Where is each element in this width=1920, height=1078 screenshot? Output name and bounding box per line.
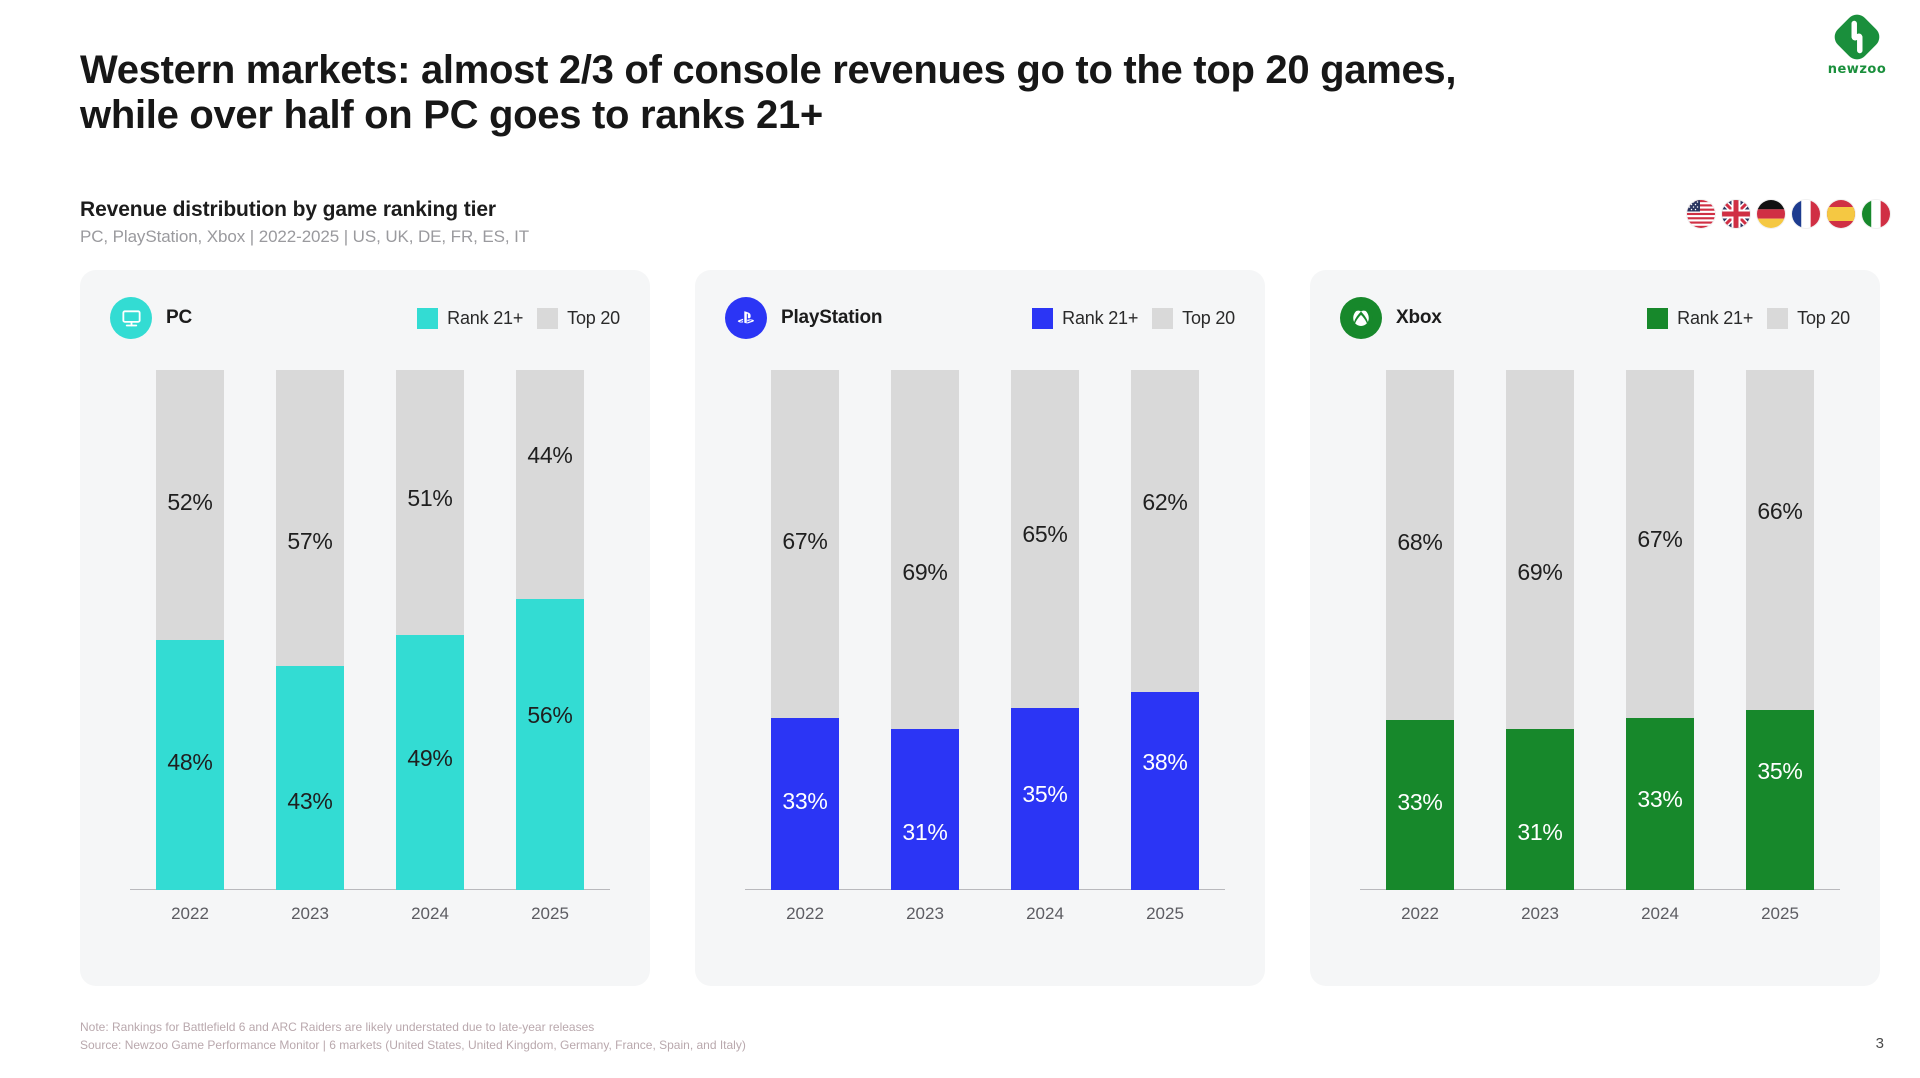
bar-segment-top20-2025[interactable]: 66% <box>1746 370 1814 710</box>
bar-segment-rank21plus-2022[interactable]: 33% <box>771 718 839 890</box>
bar-column-2022[interactable]: 68%33% <box>1386 370 1454 890</box>
legend-swatch-top-20 <box>1767 308 1788 329</box>
bar-label-rank21plus-2022: 48% <box>167 749 212 776</box>
x-tick-2025: 2025 <box>516 904 584 924</box>
legend-swatch-rank-21- <box>1032 308 1053 329</box>
bar-segment-top20-2023[interactable]: 69% <box>1506 370 1574 729</box>
x-tick-2024: 2024 <box>396 904 464 924</box>
bar-label-top20-2023: 57% <box>287 528 332 555</box>
bar-label-rank21plus-2025: 38% <box>1142 749 1187 776</box>
bar-label-rank21plus-2023: 31% <box>1517 819 1562 846</box>
legend-label-rank-21-: Rank 21+ <box>447 308 523 329</box>
bar-segment-top20-2023[interactable]: 69% <box>891 370 959 729</box>
chart-section-subtitle: PC, PlayStation, Xbox | 2022-2025 | US, … <box>80 227 529 247</box>
newzoo-logo-text: newzoo <box>1828 62 1887 77</box>
bar-column-2023[interactable]: 69%31% <box>891 370 959 890</box>
chart-section-title: Revenue distribution by game ranking tie… <box>80 198 529 222</box>
flag-de-icon <box>1757 200 1785 228</box>
x-tick-2024: 2024 <box>1011 904 1079 924</box>
bar-label-top20-2022: 68% <box>1397 529 1442 556</box>
market-flags <box>1687 200 1890 228</box>
bar-label-top20-2024: 67% <box>1637 526 1682 553</box>
bar-column-2022[interactable]: 52%48% <box>156 370 224 890</box>
legend-label-top-20: Top 20 <box>567 308 620 329</box>
bar-segment-top20-2022[interactable]: 68% <box>1386 370 1454 720</box>
platform-name-xbox: Xbox <box>1396 307 1442 329</box>
bar-label-top20-2023: 69% <box>1517 559 1562 586</box>
platform-card-pc: PCRank 21+Top 2052%48%57%43%51%49%44%56%… <box>80 270 650 986</box>
x-tick-2025: 2025 <box>1131 904 1199 924</box>
bar-column-2024[interactable]: 65%35% <box>1011 370 1079 890</box>
bars-container: 67%33%69%31%65%35%62%38% <box>745 370 1225 890</box>
bar-segment-top20-2024[interactable]: 67% <box>1626 370 1694 718</box>
platform-card-xbox: XboxRank 21+Top 2068%33%69%31%67%33%66%3… <box>1310 270 1880 986</box>
x-axis-ticks: 2022202320242025 <box>745 894 1225 924</box>
subhead: Revenue distribution by game ranking tie… <box>80 198 529 247</box>
x-axis-ticks: 2022202320242025 <box>1360 894 1840 924</box>
newzoo-logo: newzoo <box>1818 14 1896 77</box>
bar-segment-top20-2022[interactable]: 67% <box>771 370 839 718</box>
legend-xbox: Rank 21+Top 20 <box>1647 308 1850 329</box>
legend-playstation: Rank 21+Top 20 <box>1032 308 1235 329</box>
playstation-icon <box>725 297 767 339</box>
x-tick-2025: 2025 <box>1746 904 1814 924</box>
bar-column-2023[interactable]: 57%43% <box>276 370 344 890</box>
legend-label-rank-21-: Rank 21+ <box>1677 308 1753 329</box>
x-axis-ticks: 2022202320242025 <box>130 894 610 924</box>
x-tick-2022: 2022 <box>156 904 224 924</box>
platform-card-playstation: PlayStationRank 21+Top 2067%33%69%31%65%… <box>695 270 1265 986</box>
card-header-playstation: PlayStationRank 21+Top 20 <box>725 296 1235 340</box>
legend-item-top-20[interactable]: Top 20 <box>1152 308 1235 329</box>
legend-item-top-20[interactable]: Top 20 <box>1767 308 1850 329</box>
bar-segment-rank21plus-2023[interactable]: 31% <box>1506 729 1574 890</box>
bars-container: 68%33%69%31%67%33%66%35% <box>1360 370 1840 890</box>
bar-label-top20-2025: 66% <box>1757 498 1802 525</box>
bar-label-rank21plus-2025: 35% <box>1757 758 1802 785</box>
legend-label-top-20: Top 20 <box>1182 308 1235 329</box>
flag-fr-icon <box>1792 200 1820 228</box>
bar-segment-rank21plus-2025[interactable]: 35% <box>1746 710 1814 890</box>
x-tick-2022: 2022 <box>771 904 839 924</box>
bar-column-2025[interactable]: 44%56% <box>516 370 584 890</box>
bar-label-rank21plus-2025: 56% <box>527 702 572 729</box>
bar-segment-rank21plus-2024[interactable]: 35% <box>1011 708 1079 890</box>
bar-segment-rank21plus-2025[interactable]: 38% <box>1131 692 1199 890</box>
bar-segment-top20-2025[interactable]: 62% <box>1131 370 1199 692</box>
legend-label-rank-21-: Rank 21+ <box>1062 308 1138 329</box>
card-header-pc: PCRank 21+Top 20 <box>110 296 620 340</box>
bar-label-rank21plus-2024: 33% <box>1637 786 1682 813</box>
bar-label-top20-2024: 65% <box>1022 521 1067 548</box>
bar-segment-rank21plus-2025[interactable]: 56% <box>516 599 584 890</box>
plot-area-xbox: 68%33%69%31%67%33%66%35%2022202320242025 <box>1360 370 1840 924</box>
bar-column-2025[interactable]: 62%38% <box>1131 370 1199 890</box>
bar-label-rank21plus-2022: 33% <box>1397 789 1442 816</box>
bar-label-top20-2025: 44% <box>527 442 572 469</box>
legend-pc: Rank 21+Top 20 <box>417 308 620 329</box>
bar-label-rank21plus-2024: 35% <box>1022 781 1067 808</box>
platform-name-pc: PC <box>166 307 192 329</box>
bar-segment-rank21plus-2024[interactable]: 33% <box>1626 718 1694 890</box>
flag-us-icon <box>1687 200 1715 228</box>
legend-item-rank-21-[interactable]: Rank 21+ <box>417 308 523 329</box>
bar-segment-top20-2022[interactable]: 52% <box>156 370 224 640</box>
bar-segment-top20-2023[interactable]: 57% <box>276 370 344 666</box>
bar-label-top20-2023: 69% <box>902 559 947 586</box>
bar-column-2025[interactable]: 66%35% <box>1746 370 1814 890</box>
legend-item-rank-21-[interactable]: Rank 21+ <box>1647 308 1753 329</box>
bar-segment-rank21plus-2023[interactable]: 43% <box>276 666 344 890</box>
legend-swatch-rank-21- <box>417 308 438 329</box>
bar-label-top20-2024: 51% <box>407 485 452 512</box>
footnote-source: Source: Newzoo Game Performance Monitor … <box>80 1037 746 1054</box>
bar-segment-rank21plus-2022[interactable]: 48% <box>156 640 224 890</box>
bar-segment-top20-2024[interactable]: 51% <box>396 370 464 635</box>
x-tick-2023: 2023 <box>276 904 344 924</box>
platform-name-playstation: PlayStation <box>781 307 882 329</box>
bar-column-2024[interactable]: 51%49% <box>396 370 464 890</box>
bar-label-top20-2022: 52% <box>167 489 212 516</box>
flag-uk-icon <box>1722 200 1750 228</box>
plot-area-pc: 52%48%57%43%51%49%44%56%2022202320242025 <box>130 370 610 924</box>
x-tick-2022: 2022 <box>1386 904 1454 924</box>
bar-column-2023[interactable]: 69%31% <box>1506 370 1574 890</box>
bar-segment-rank21plus-2023[interactable]: 31% <box>891 729 959 890</box>
xbox-icon <box>1340 297 1382 339</box>
legend-item-rank-21-[interactable]: Rank 21+ <box>1032 308 1138 329</box>
newzoo-logo-mark <box>1834 14 1880 60</box>
x-tick-2023: 2023 <box>1506 904 1574 924</box>
legend-swatch-top-20 <box>1152 308 1173 329</box>
legend-item-top-20[interactable]: Top 20 <box>537 308 620 329</box>
bar-label-rank21plus-2024: 49% <box>407 745 452 772</box>
bars-container: 52%48%57%43%51%49%44%56% <box>130 370 610 890</box>
bar-column-2024[interactable]: 67%33% <box>1626 370 1694 890</box>
bar-label-rank21plus-2023: 31% <box>902 819 947 846</box>
bar-segment-rank21plus-2022[interactable]: 33% <box>1386 720 1454 890</box>
legend-label-top-20: Top 20 <box>1797 308 1850 329</box>
footnotes: Note: Rankings for Battlefield 6 and ARC… <box>80 1019 746 1054</box>
plot-area-playstation: 67%33%69%31%65%35%62%38%2022202320242025 <box>745 370 1225 924</box>
bar-label-rank21plus-2023: 43% <box>287 788 332 815</box>
bar-segment-rank21plus-2024[interactable]: 49% <box>396 635 464 890</box>
footnote-note: Note: Rankings for Battlefield 6 and ARC… <box>80 1019 746 1036</box>
card-header-xbox: XboxRank 21+Top 20 <box>1340 296 1850 340</box>
bar-column-2022[interactable]: 67%33% <box>771 370 839 890</box>
platform-charts-row: PCRank 21+Top 2052%48%57%43%51%49%44%56%… <box>80 270 1880 986</box>
bar-segment-top20-2025[interactable]: 44% <box>516 370 584 599</box>
bar-segment-top20-2024[interactable]: 65% <box>1011 370 1079 708</box>
page-number: 3 <box>1876 1035 1884 1052</box>
flag-es-icon <box>1827 200 1855 228</box>
x-tick-2024: 2024 <box>1626 904 1694 924</box>
page-title: Western markets: almost 2/3 of console r… <box>80 48 1560 138</box>
bar-label-rank21plus-2022: 33% <box>782 788 827 815</box>
legend-swatch-top-20 <box>537 308 558 329</box>
flag-it-icon <box>1862 200 1890 228</box>
bar-label-top20-2022: 67% <box>782 528 827 555</box>
bar-label-top20-2025: 62% <box>1142 489 1187 516</box>
monitor-icon <box>110 297 152 339</box>
legend-swatch-rank-21- <box>1647 308 1668 329</box>
x-tick-2023: 2023 <box>891 904 959 924</box>
